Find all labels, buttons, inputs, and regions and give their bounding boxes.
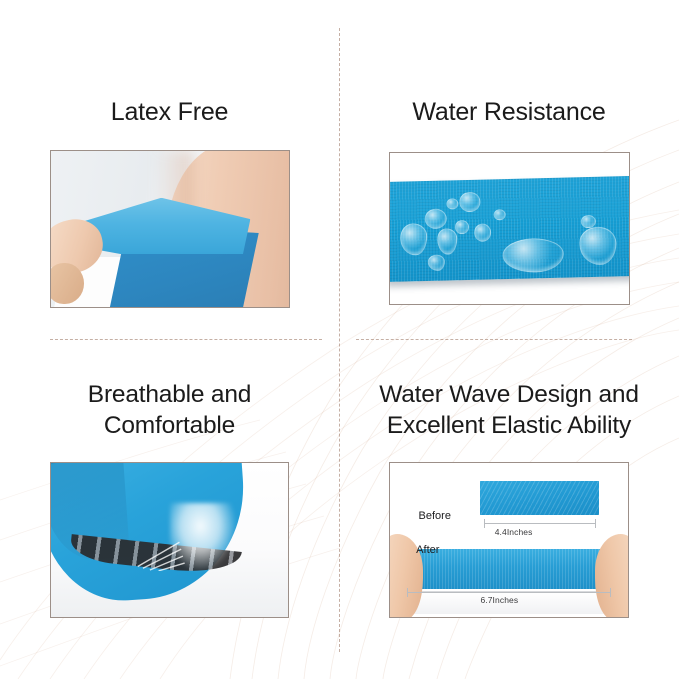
- water-droplet: [428, 254, 445, 270]
- feature-panel-breathable: Breathable and Comfortable: [0, 339, 339, 679]
- feature-title-water-resistance: Water Resistance: [412, 96, 605, 128]
- dimension-line-after: [407, 592, 612, 593]
- measurement-after: 6.7Inches: [480, 595, 518, 605]
- tape-strip: [389, 176, 630, 282]
- label-after: After: [416, 544, 439, 556]
- photo-breathable: [50, 462, 289, 618]
- water-droplet: [454, 220, 469, 234]
- water-droplet: [437, 228, 457, 254]
- feature-title-breathable: Breathable and Comfortable: [88, 379, 251, 442]
- feature-panel-latex-free: Latex Free: [0, 0, 339, 339]
- water-droplet: [399, 223, 427, 256]
- tape-weave-texture: [480, 481, 599, 515]
- finger: [50, 263, 84, 304]
- photo-water-resistance: [389, 152, 630, 305]
- dimension-line-before: [484, 523, 596, 524]
- infographic-page: Latex Free: [0, 0, 679, 679]
- photo-latex-free: [50, 150, 290, 308]
- feature-panel-elastic: Water Wave Design and Excellent Elastic …: [339, 339, 679, 679]
- feature-title-latex-free: Latex Free: [111, 96, 229, 128]
- water-droplet: [581, 214, 596, 227]
- feature-grid: Latex Free: [0, 0, 679, 679]
- feature-panel-water-resistance: Water Resistance: [339, 0, 679, 339]
- water-droplet: [494, 209, 506, 220]
- measurement-before: 4.4Inches: [495, 527, 533, 537]
- water-droplet: [424, 208, 446, 228]
- water-droplet: [458, 191, 480, 211]
- label-before: Before: [419, 510, 451, 522]
- tape-before-strip: [480, 481, 599, 515]
- steam-vapor: [170, 503, 236, 571]
- photo-elastic-demo: Before After 4.4Inches 6.7Inches: [389, 462, 629, 618]
- feature-title-elastic: Water Wave Design and Excellent Elastic …: [379, 379, 639, 442]
- water-droplet: [446, 198, 458, 209]
- water-droplet: [474, 223, 491, 241]
